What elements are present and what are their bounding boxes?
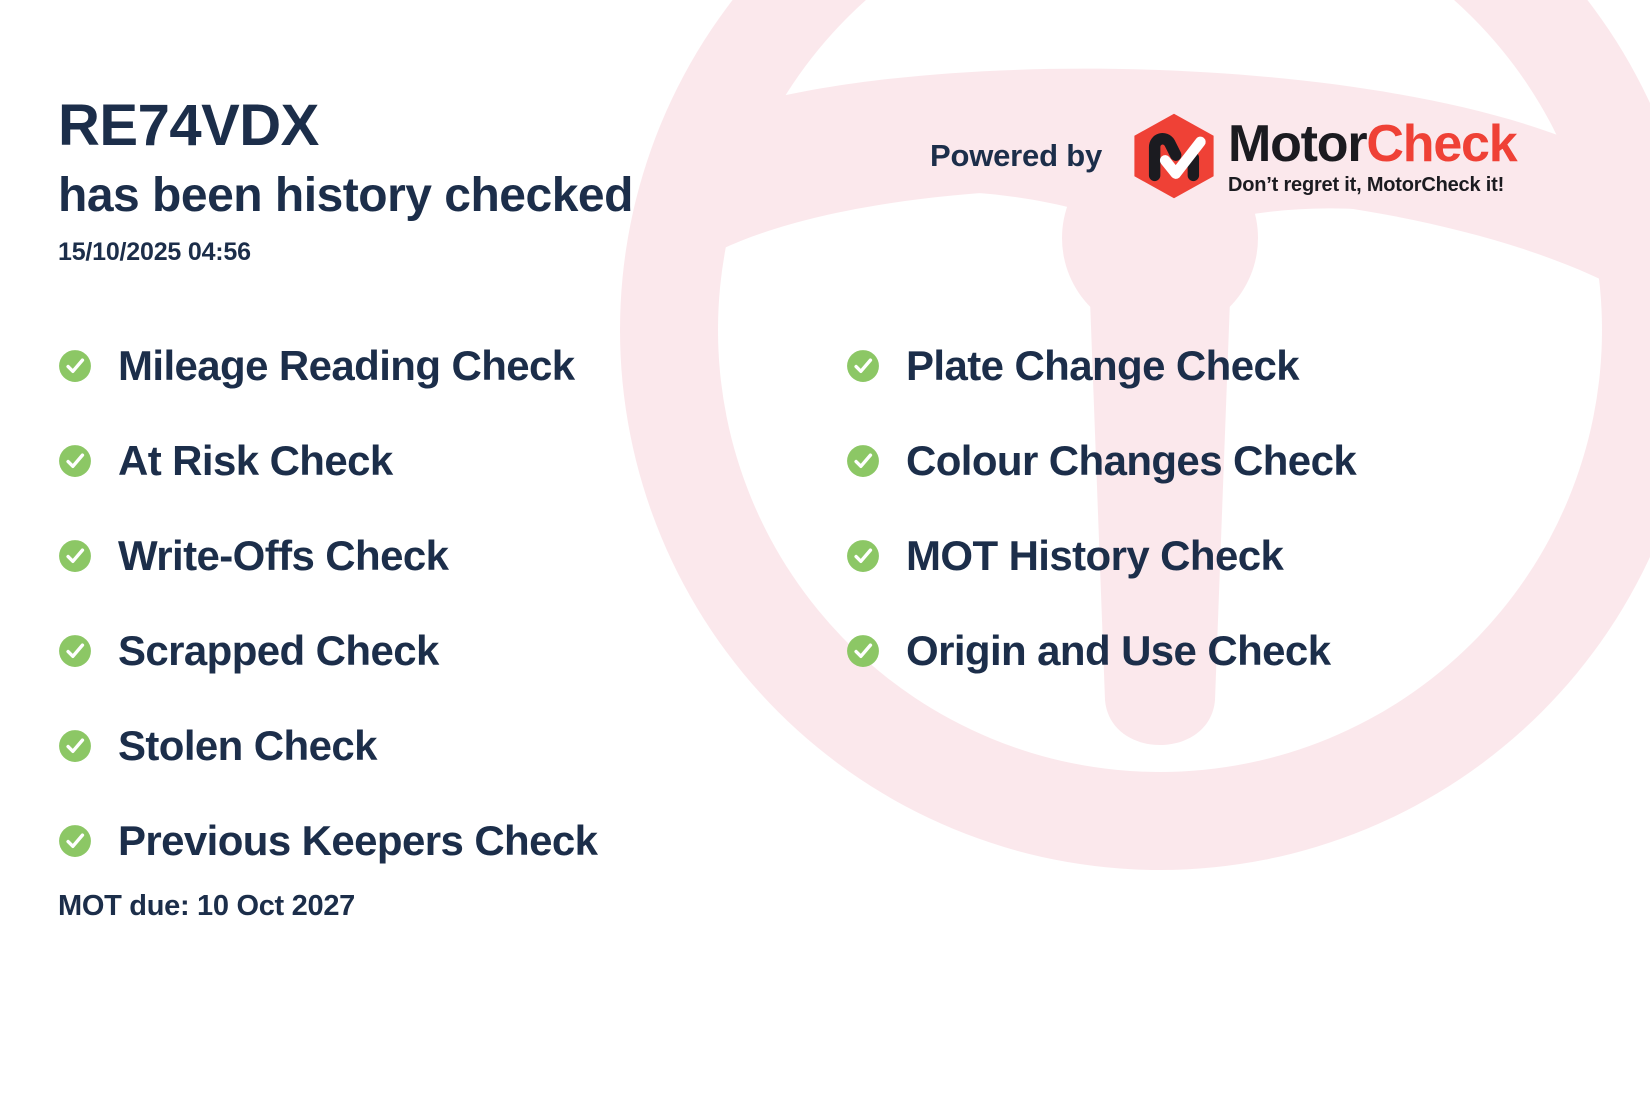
motorcheck-hexagon-logo-icon (1130, 112, 1218, 200)
check-circle-icon (58, 824, 92, 858)
vehicle-history-check-card: RE74VDX has been history checked 15/10/2… (0, 0, 1650, 1100)
page-title: has been history checked (58, 170, 633, 223)
wordmark-motor: Motor (1228, 115, 1366, 173)
check-item-at-risk: At Risk Check (58, 413, 758, 508)
check-label: Previous Keepers Check (118, 820, 597, 862)
check-timestamp: 15/10/2025 04:56 (58, 238, 251, 267)
check-circle-icon (58, 729, 92, 763)
brand-tagline: Don’t regret it, MotorCheck it! (1228, 175, 1516, 195)
check-label: Write-Offs Check (118, 535, 448, 577)
check-item-plate-change: Plate Change Check (846, 318, 1506, 413)
checks-column-right: Plate Change Check Colour Changes Check … (846, 318, 1506, 888)
check-label: At Risk Check (118, 440, 393, 482)
motorcheck-wordmark: MotorCheck Don’t regret it, MotorCheck i… (1228, 118, 1516, 195)
check-label: Mileage Reading Check (118, 345, 575, 387)
powered-by-branding: Powered by MotorCheck Don’t regret it, M… (930, 112, 1516, 200)
check-item-write-offs: Write-Offs Check (58, 508, 758, 603)
check-item-origin-and-use: Origin and Use Check (846, 603, 1506, 698)
check-circle-icon (846, 444, 880, 478)
wordmark-text: MotorCheck (1228, 118, 1516, 170)
powered-by-label: Powered by (930, 138, 1102, 174)
check-item-mot-history: MOT History Check (846, 508, 1506, 603)
check-circle-icon (58, 539, 92, 573)
registration-plate: RE74VDX (58, 96, 319, 156)
check-item-mileage-reading: Mileage Reading Check (58, 318, 758, 413)
check-circle-icon (58, 634, 92, 668)
check-label: Origin and Use Check (906, 630, 1330, 672)
check-circle-icon (58, 444, 92, 478)
check-item-stolen: Stolen Check (58, 698, 758, 793)
check-circle-icon (846, 634, 880, 668)
check-item-scrapped: Scrapped Check (58, 603, 758, 698)
mot-due-date: MOT due: 10 Oct 2027 (58, 890, 355, 923)
check-label: Stolen Check (118, 725, 377, 767)
check-item-previous-keepers: Previous Keepers Check (58, 793, 758, 888)
check-circle-icon (846, 539, 880, 573)
check-label: MOT History Check (906, 535, 1283, 577)
motorcheck-logo[interactable]: MotorCheck Don’t regret it, MotorCheck i… (1130, 112, 1516, 200)
check-label: Scrapped Check (118, 630, 439, 672)
wordmark-check: Check (1366, 115, 1516, 173)
check-circle-icon (846, 349, 880, 383)
check-item-colour-changes: Colour Changes Check (846, 413, 1506, 508)
checks-column-left: Mileage Reading Check At Risk Check Writ… (58, 318, 758, 888)
checks-grid: Mileage Reading Check At Risk Check Writ… (58, 318, 1598, 888)
check-label: Plate Change Check (906, 345, 1299, 387)
check-label: Colour Changes Check (906, 440, 1356, 482)
check-circle-icon (58, 349, 92, 383)
